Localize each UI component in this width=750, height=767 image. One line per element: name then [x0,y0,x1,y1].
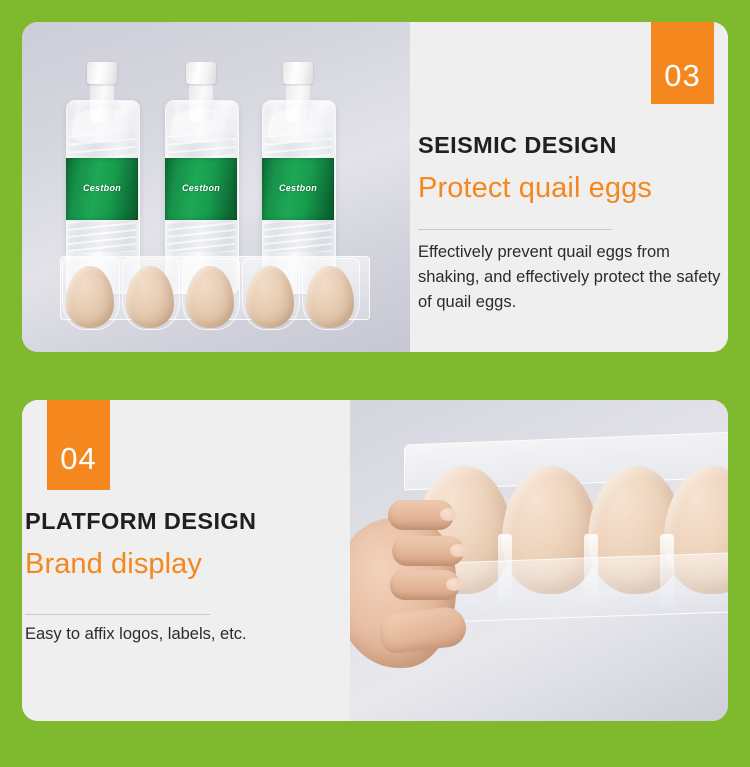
fingernail [440,508,457,521]
bottle-label: Cestbon [66,158,138,220]
hand [350,492,486,682]
feature-panel-seismic-design: Cestbon Cestbon Cestbon [22,22,728,352]
panel-04-body-text: Easy to affix logos, labels, etc. [25,622,335,647]
bottle-cap [283,62,313,84]
bottle-cap [186,62,216,84]
fingernail [446,578,463,591]
fingernail [450,544,467,557]
panel-04-subheadline: Brand display [25,548,202,581]
bottle-brand-text: Cestbon [182,183,220,193]
bottle-neck [189,82,213,122]
bottle-brand-text: Cestbon [279,183,317,193]
panel-04-text-column: 04 PLATFORM DESIGN Brand display Easy to… [22,400,350,721]
bottle-neck [286,82,310,122]
bottle-neck [90,82,114,122]
panel-03-divider [418,229,612,230]
panel-03-subheadline: Protect quail eggs [418,172,652,205]
bottles-on-egg-carton-photo: Cestbon Cestbon Cestbon [22,22,410,352]
bottle-label: Cestbon [262,158,334,220]
panel-03-body-text: Effectively prevent quail eggs from shak… [418,240,728,315]
bottle-brand-text: Cestbon [83,183,121,193]
hand-holding-egg-carton-photo [350,400,728,721]
egg-carton [60,248,368,330]
panel-03-text-column: 03 SEISMIC DESIGN Protect quail eggs Eff… [410,22,728,352]
bottle-cap [87,62,117,84]
panel-03-headline: SEISMIC DESIGN [418,132,617,159]
feature-panel-platform-design: 04 PLATFORM DESIGN Brand display Easy to… [22,400,728,721]
step-number-badge-03: 03 [651,22,714,104]
bottle-label: Cestbon [165,158,237,220]
panel-04-divider [25,614,210,615]
step-number-badge-04: 04 [47,400,110,490]
panel-04-headline: PLATFORM DESIGN [25,508,256,535]
